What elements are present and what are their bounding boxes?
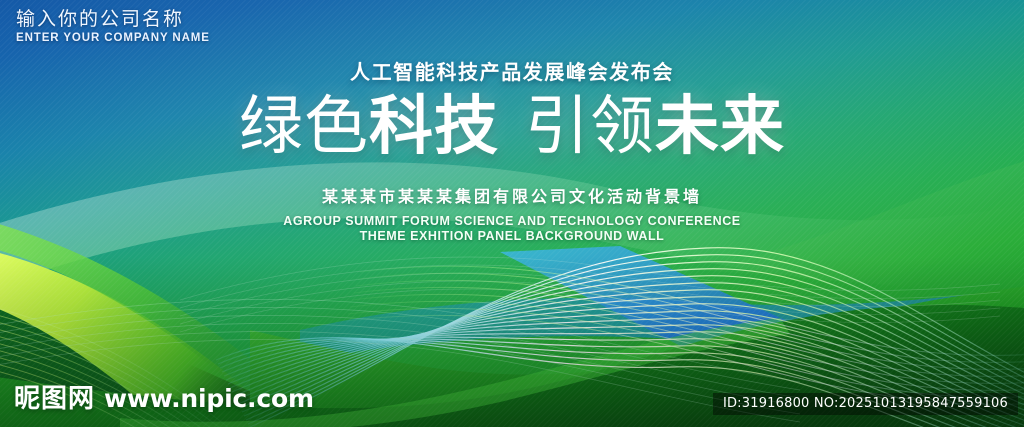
main-title-part-2: 科技 [369,90,499,162]
image-id-strip: ID:31916800 NO:20251013195847559106 [713,393,1018,415]
main-title: 绿色科技引领未来 [0,94,1024,159]
company-name-en: ENTER YOUR COMPANY NAME [16,32,210,44]
watermark-brand-cn: 昵图网 [14,378,95,415]
subtitle-block: 某某某市某某某集团有限公司文化活动背景墙 AGROUP SUMMIT FORUM… [0,183,1024,243]
headline-block: 人工智能科技产品发展峰会发布会 绿色科技引领未来 [0,56,1024,159]
main-title-part-1: 绿色 [239,90,369,162]
watermark-url: www.nipic.com [104,384,314,413]
watermark: 昵图网 www.nipic.com [14,378,314,415]
main-title-part-4: 未来 [655,90,785,162]
event-eyebrow: 人工智能科技产品发展峰会发布会 [0,56,1024,85]
subtitle-en-line-2: THEME EXHITION PANEL BACKGROUND WALL [0,229,1024,243]
main-title-part-3: 引领 [525,90,655,162]
subtitle-en-line-1: AGROUP SUMMIT FORUM SCIENCE AND TECHNOLO… [0,214,1024,228]
subtitle-cn: 某某某市某某某集团有限公司文化活动背景墙 [0,183,1024,207]
company-name-block: 输入你的公司名称 ENTER YOUR COMPANY NAME [16,9,210,44]
company-name-cn: 输入你的公司名称 [16,9,210,30]
poster-canvas: 输入你的公司名称 ENTER YOUR COMPANY NAME 人工智能科技产… [0,0,1024,427]
